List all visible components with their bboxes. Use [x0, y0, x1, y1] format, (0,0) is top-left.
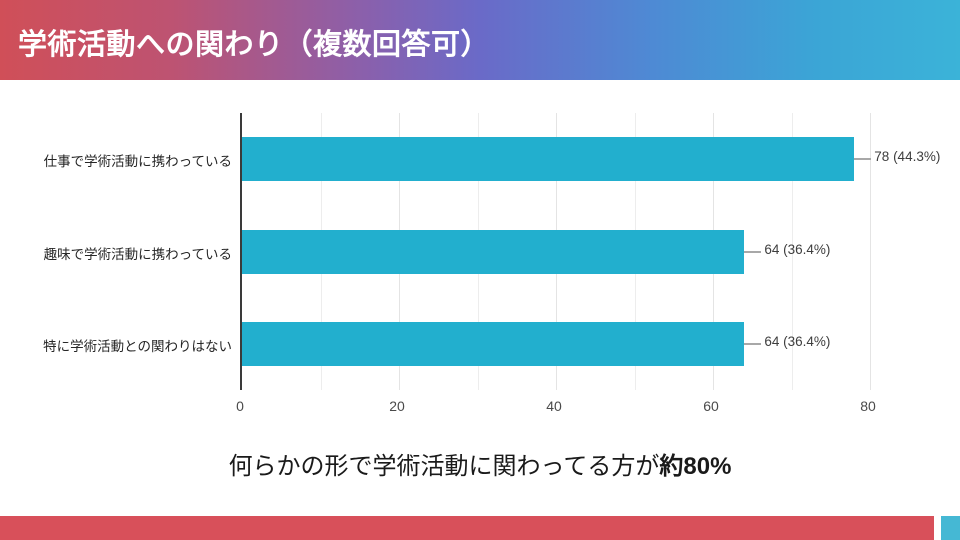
caption-plain-text: 何らかの形で学術活動に関わってる方が [229, 453, 660, 480]
footer-accent-square [941, 516, 960, 540]
bar-chart: 仕事で学術活動に携わっている趣味で学術活動に携わっている特に学術活動との関わりは… [0, 80, 960, 420]
x-tick-80: 80 [860, 398, 876, 414]
x-tick-20: 20 [389, 398, 405, 414]
bar-row: 64 (36.4%) [242, 230, 870, 274]
plot-area: 78 (44.3%)64 (36.4%)64 (36.4%) [240, 113, 868, 390]
category-label-1: 仕事で学術活動に携わっている [6, 150, 232, 170]
x-tick-40: 40 [546, 398, 562, 414]
category-label-3: 特に学術活動との関わりはない [6, 335, 232, 355]
category-axis-labels: 仕事で学術活動に携わっている趣味で学術活動に携わっている特に学術活動との関わりは… [0, 113, 232, 390]
x-tick-0: 0 [236, 398, 244, 414]
bar-value-label: 64 (36.4%) [764, 242, 830, 257]
gridline-80 [870, 113, 871, 390]
bar-3[interactable] [242, 322, 744, 366]
bar-value-label: 78 (44.3%) [874, 149, 940, 164]
page-title: 学術活動への関わり（複数回答可） [18, 21, 490, 63]
title-banner: 学術活動への関わり（複数回答可） [0, 0, 960, 80]
bar-2[interactable] [242, 230, 744, 274]
footer-bar [0, 516, 934, 540]
x-tick-60: 60 [703, 398, 719, 414]
x-axis-tick-labels: 020406080 [0, 398, 960, 420]
bar-leader-line [744, 251, 761, 253]
caption-emphasis-text: 約80% [659, 453, 731, 480]
summary-caption: 何らかの形で学術活動に関わってる方が約80% [0, 446, 960, 481]
category-label-2: 趣味で学術活動に携わっている [6, 243, 232, 263]
bar-1[interactable] [242, 137, 854, 181]
bar-leader-line [744, 343, 761, 345]
bar-row: 78 (44.3%) [242, 137, 870, 181]
bar-value-label: 64 (36.4%) [764, 334, 830, 349]
bar-row: 64 (36.4%) [242, 322, 870, 366]
bar-leader-line [854, 158, 871, 160]
